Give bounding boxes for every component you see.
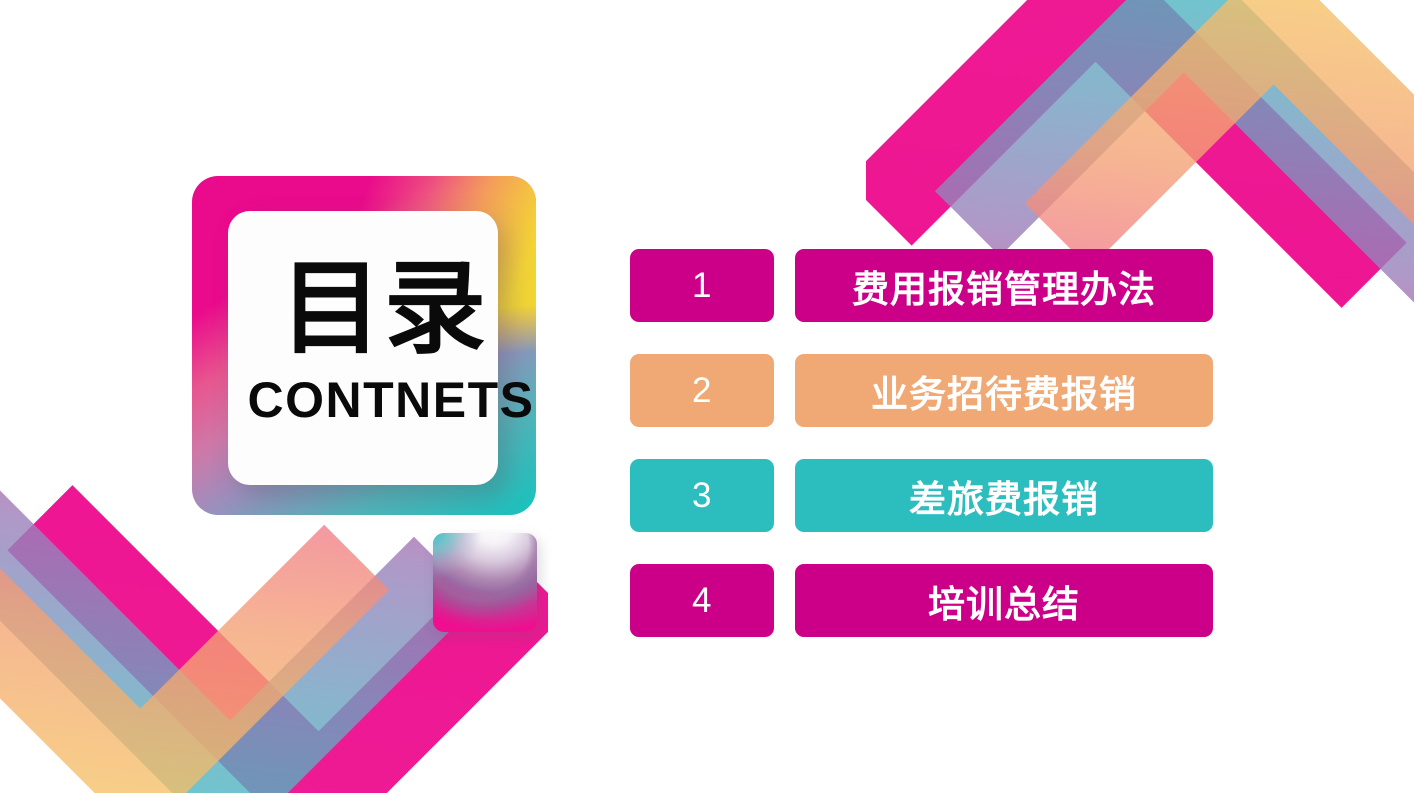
contents-item-4[interactable]: 4 培训总结 xyxy=(630,564,1213,637)
contents-list: 1 费用报销管理办法 2 业务招待费报销 3 差旅费报销 4 培训总结 xyxy=(630,249,1213,637)
contents-item-4-number-block[interactable]: 4 xyxy=(630,564,774,637)
accent-gradient-tile xyxy=(433,533,537,632)
title-card: 目录 CONTNETS xyxy=(192,176,536,515)
contents-item-2-number-block[interactable]: 2 xyxy=(630,354,774,427)
contents-item-2-label-block[interactable]: 业务招待费报销 xyxy=(795,354,1213,427)
accent-tile-swoosh xyxy=(433,533,537,620)
presentation-slide: 目录 CONTNETS 1 费用报销管理办法 2 业务招待费报销 3 差旅费报销… xyxy=(0,0,1414,793)
contents-item-4-label-block[interactable]: 培训总结 xyxy=(795,564,1213,637)
contents-item-3-label-block[interactable]: 差旅费报销 xyxy=(795,459,1213,532)
contents-item-1-label-block[interactable]: 费用报销管理办法 xyxy=(795,249,1213,322)
contents-item-3[interactable]: 3 差旅费报销 xyxy=(630,459,1213,532)
contents-item-3-number-block[interactable]: 3 xyxy=(630,459,774,532)
page-title-cn: 目录 xyxy=(280,258,488,362)
contents-item-1[interactable]: 1 费用报销管理办法 xyxy=(630,249,1213,322)
contents-item-2[interactable]: 2 业务招待费报销 xyxy=(630,354,1213,427)
contents-item-1-number-block[interactable]: 1 xyxy=(630,249,774,322)
title-text-group: 目录 CONTNETS xyxy=(192,176,536,485)
page-title-en: CONTNETS xyxy=(248,371,535,429)
